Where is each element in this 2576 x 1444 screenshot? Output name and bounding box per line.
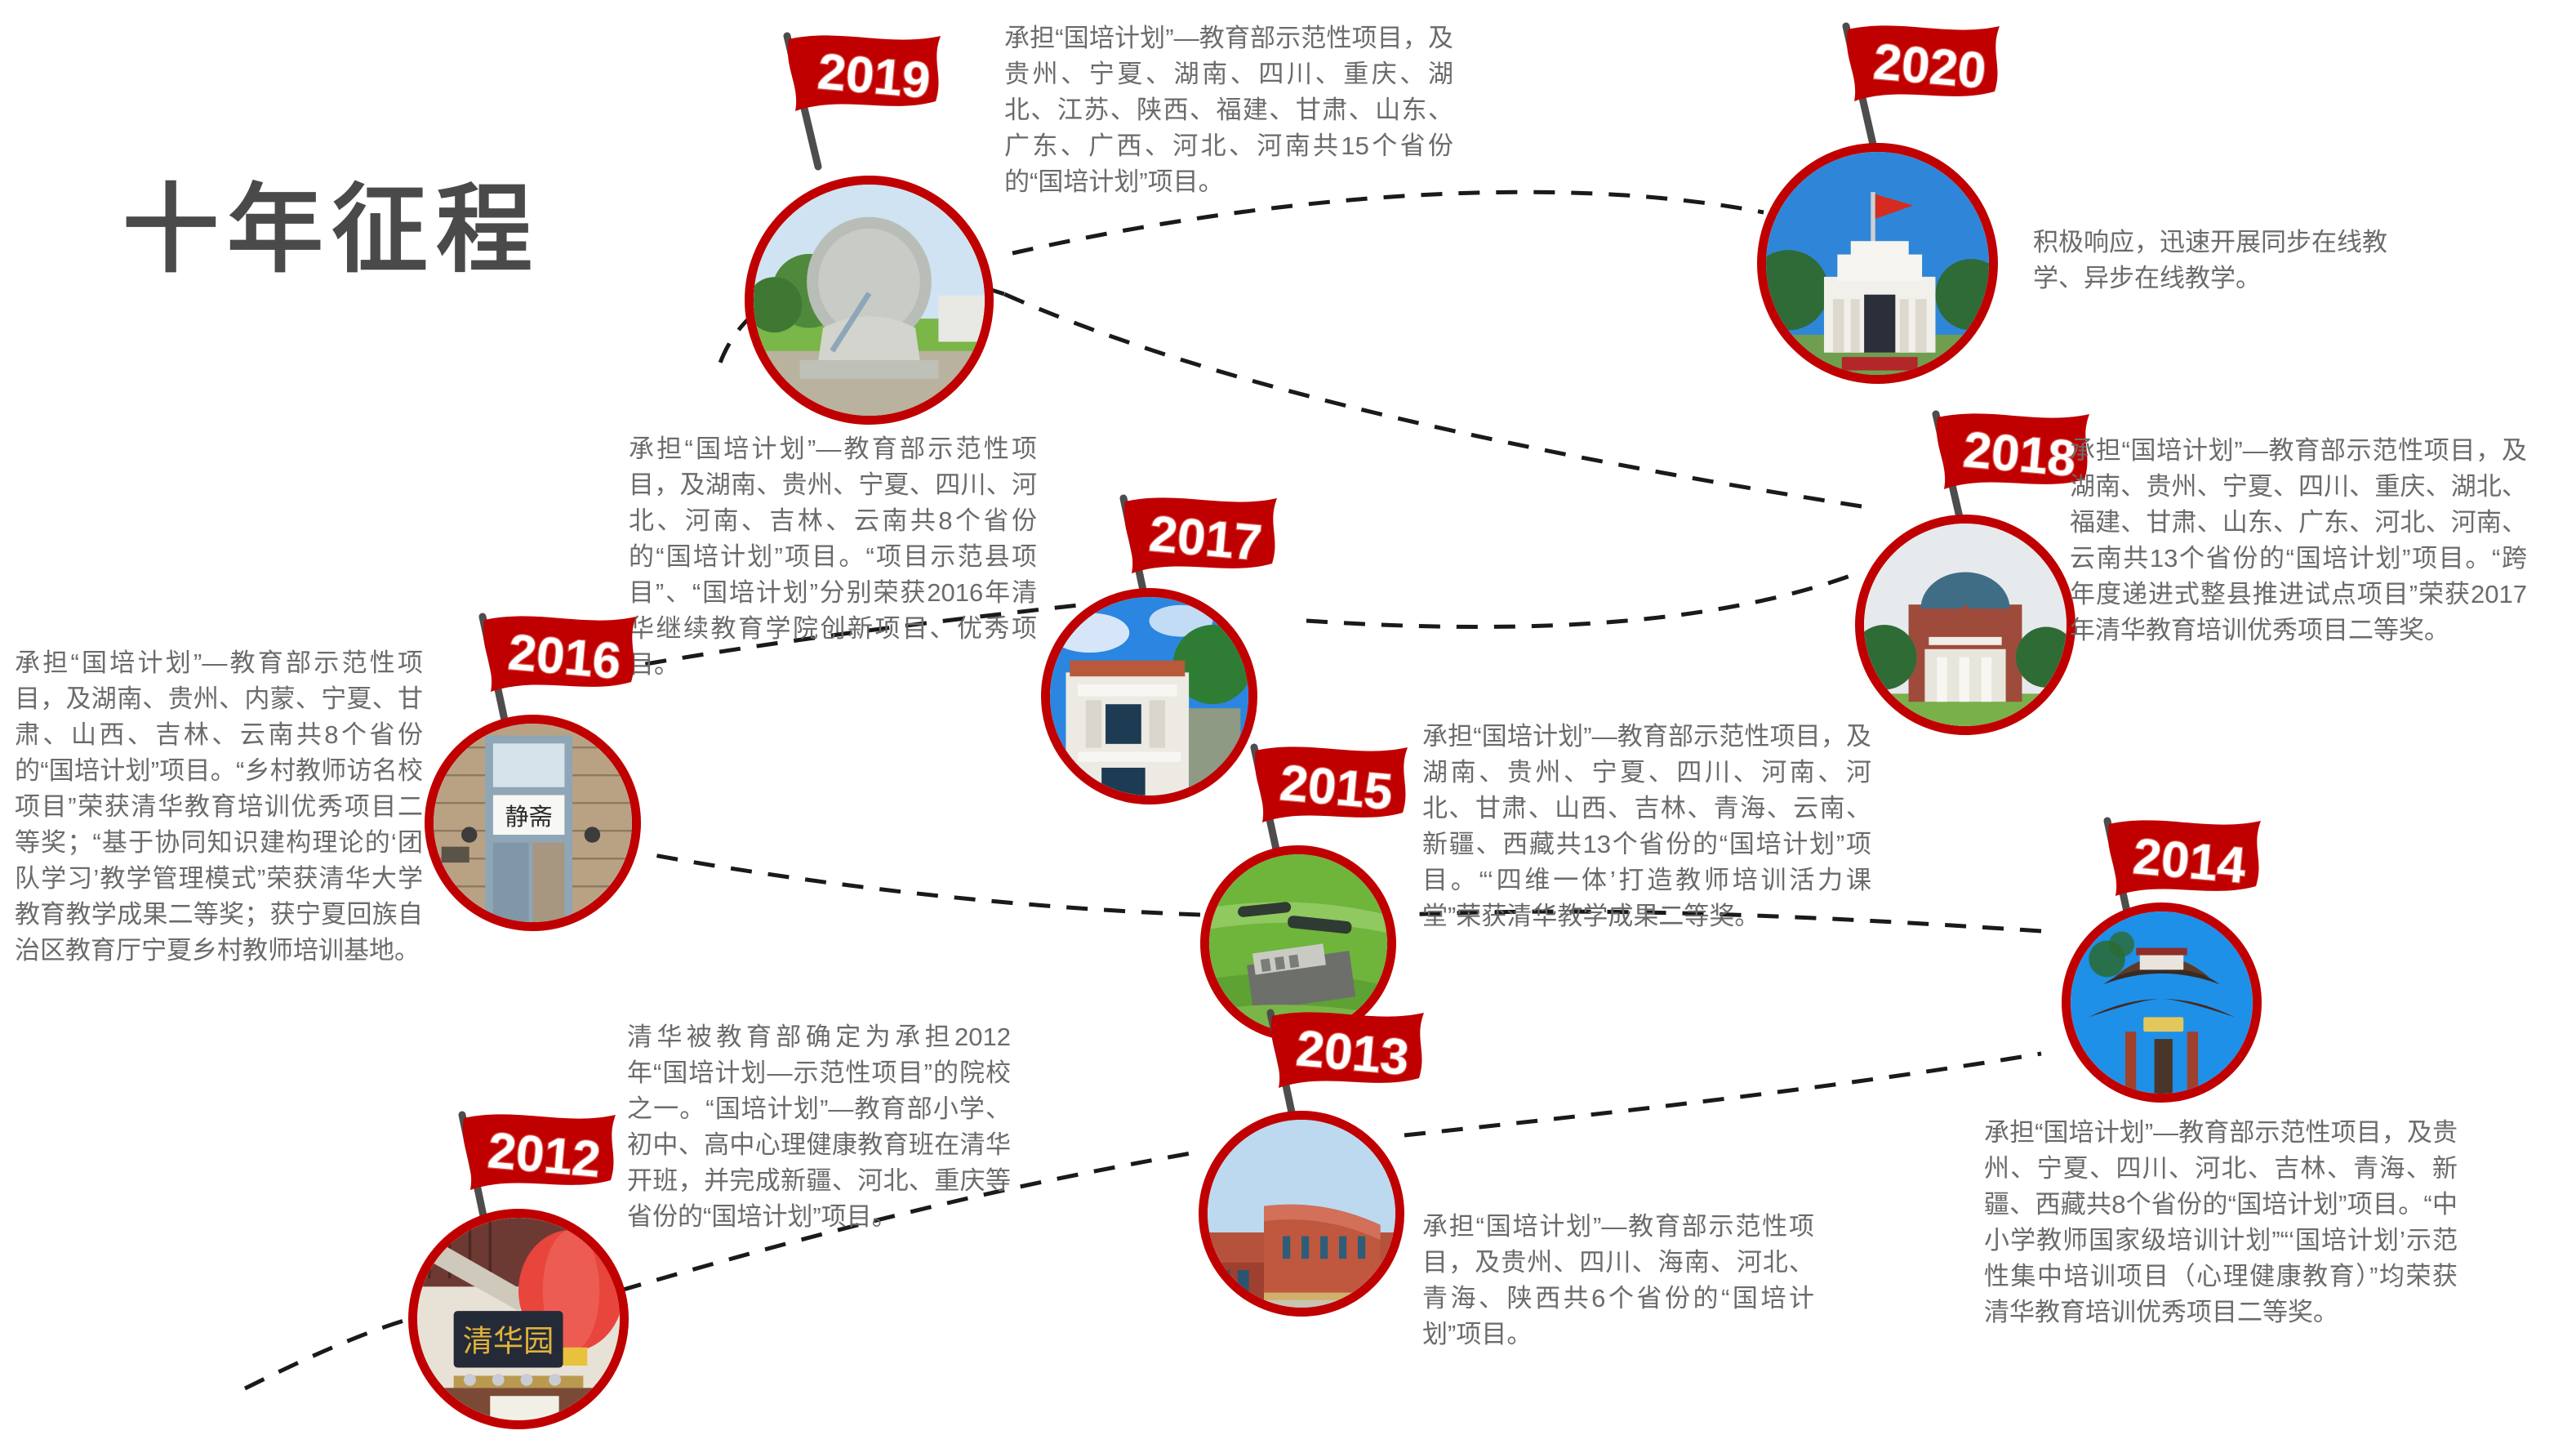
text-2020: 积极响应，迅速开展同步在线教学、异步在线教学。: [2033, 225, 2409, 296]
flag-year-label: 2014: [2131, 828, 2249, 894]
photo-2013-image: [1208, 1120, 1395, 1308]
photo-2017[interactable]: [1041, 588, 1257, 804]
flag-year-label: 2015: [1278, 755, 1395, 821]
page-title: 十年征程: [122, 151, 541, 291]
flag-2019: 2019: [767, 26, 972, 177]
photo-2018-image: [1864, 524, 2067, 726]
svg-text:清华园: 清华园: [463, 1325, 554, 1359]
photo-2012[interactable]: 清华园: [408, 1209, 629, 1429]
photo-2016-image: 静斋: [434, 724, 632, 922]
flag-year-label: 2017: [1147, 506, 1264, 572]
svg-text:静斋: 静斋: [505, 804, 552, 831]
text-2015: 承担“国培计划”—教育部示范性项目，及湖南、贵州、宁夏、四川、河南、河北、甘肃、…: [1422, 719, 1871, 934]
text-2018: 承担“国培计划”—教育部示范性项目，及湖南、贵州、宁夏、四川、重庆、湖北、福建、…: [2070, 433, 2527, 648]
flag-year-label: 2020: [1871, 33, 1988, 100]
photo-2020-image: [1766, 152, 1989, 375]
photo-2014[interactable]: [2062, 902, 2262, 1103]
text-2013: 承担“国培计划”—教育部示范性项目，及贵州、四川、海南、河北、青海、陕西共6个省…: [1422, 1209, 1814, 1353]
timeline-infographic: 十年征程 2019: [0, 0, 2576, 1444]
photo-2019-image: [754, 185, 985, 416]
text-2014: 承担“国培计划”—教育部示范性项目，及贵州、宁夏、四川、河北、吉林、青海、新疆、…: [1984, 1115, 2458, 1330]
flag-2020: 2020: [1825, 15, 2029, 166]
photo-2012-image: 清华园: [417, 1218, 620, 1420]
flag-year-label: 2018: [1961, 421, 2078, 488]
photo-2014-image: [2071, 911, 2253, 1094]
photo-2018[interactable]: [1855, 515, 2075, 735]
text-2019: 承担“国培计划”—教育部示范性项目，及贵州、宁夏、湖南、四川、重庆、湖北、江苏、…: [1004, 20, 1453, 200]
photo-2019[interactable]: [745, 176, 994, 425]
text-2016: 承担“国培计划”—教育部示范性项目，及湖南、贵州、内蒙、宁夏、甘肃、山西、吉林、…: [15, 645, 423, 969]
photo-2016[interactable]: 静斋: [425, 715, 641, 931]
text-2017: 承担“国培计划”—教育部示范性项目，及湖南、贵州、宁夏、四川、河北、河南、吉林、…: [629, 431, 1037, 683]
flag-year-label: 2019: [816, 43, 932, 109]
photo-2017-image: [1050, 597, 1248, 796]
flag-year-label: 2013: [1294, 1020, 1411, 1086]
photo-2020[interactable]: [1757, 143, 1998, 384]
flag-year-label: 2016: [506, 624, 623, 690]
flag-year-label: 2012: [486, 1122, 603, 1188]
photo-2013[interactable]: [1199, 1111, 1404, 1317]
text-2012: 清华被教育部确定为承担2012年“国培计划—示范性项目”的院校之一。“国培计划”…: [627, 1019, 1011, 1235]
